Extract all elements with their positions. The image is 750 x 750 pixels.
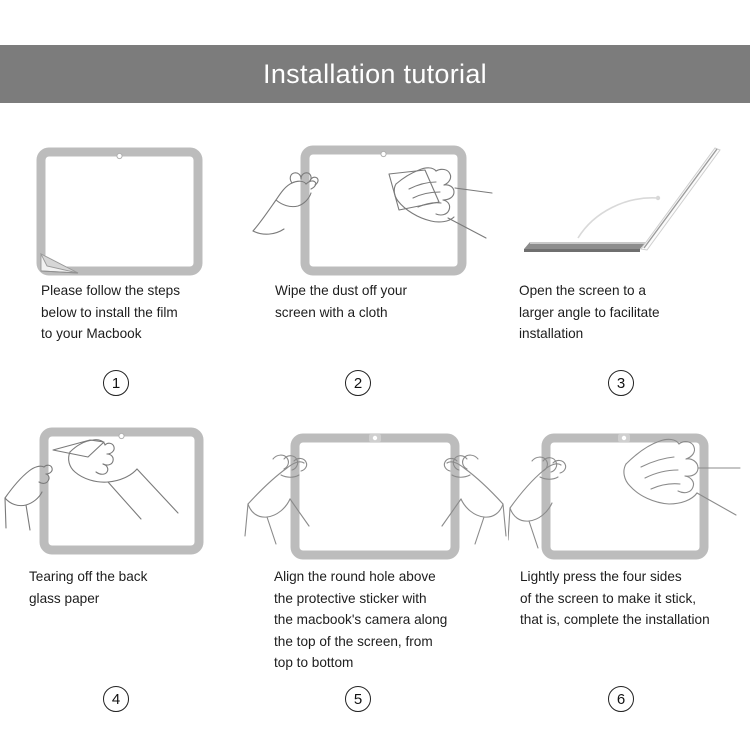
step-1-caption: Please follow the steps below to install…: [0, 280, 243, 345]
step-5-badge-row: 5: [243, 678, 508, 724]
caption-line: the macbook's camera along: [274, 609, 502, 631]
step-1-illustration: [0, 126, 243, 276]
step-card-2: Wipe the dust off your screen with a clo…: [243, 126, 508, 412]
caption-line: of the screen to make it stick,: [520, 588, 744, 610]
step-2-caption: Wipe the dust off your screen with a clo…: [243, 280, 508, 323]
hands-tearing-backing-paper-icon: [0, 412, 243, 562]
step-1-badge-row: 1: [0, 362, 243, 412]
caption-line: Please follow the steps: [41, 280, 237, 302]
step-3-illustration: [508, 126, 750, 276]
caption-line: Open the screen to a: [519, 280, 744, 302]
caption-line: Tearing off the back: [29, 566, 237, 588]
caption-line: Lightly press the four sides: [520, 566, 744, 588]
step-2-illustration: [243, 126, 508, 276]
step-5-illustration: [243, 412, 508, 562]
step-5-caption: Align the round hole above the protectiv…: [243, 566, 508, 674]
two-hands-aligning-film-icon: [243, 412, 508, 562]
caption-line: Wipe the dust off your: [275, 280, 502, 302]
step-3-caption: Open the screen to a larger angle to fac…: [508, 280, 750, 345]
caption-line: the top of the screen, from: [274, 631, 502, 653]
step-number-badge: 6: [608, 686, 634, 712]
laptop-open-angle-side-view-icon: [508, 126, 750, 276]
step-card-6: Lightly press the four sides of the scre…: [508, 412, 750, 724]
laptop-screen-with-peeling-film-icon: [0, 126, 243, 276]
step-6-badge-row: 6: [508, 678, 750, 724]
caption-line: screen with a cloth: [275, 302, 502, 324]
step-2-badge-row: 2: [243, 362, 508, 412]
step-4-caption: Tearing off the back glass paper: [0, 566, 243, 609]
caption-line: top to bottom: [274, 652, 502, 674]
caption-line: larger angle to facilitate: [519, 302, 744, 324]
step-4-illustration: [0, 412, 243, 562]
step-card-4: Tearing off the back glass paper 4: [0, 412, 243, 724]
step-number-badge: 3: [608, 370, 634, 396]
caption-line: below to install the film: [41, 302, 237, 324]
hands-wiping-screen-with-cloth-icon: [243, 126, 508, 276]
step-number-badge: 1: [103, 370, 129, 396]
step-6-caption: Lightly press the four sides of the scre…: [508, 566, 750, 631]
step-number-badge: 4: [103, 686, 129, 712]
step-number-badge: 2: [345, 370, 371, 396]
step-number-badge: 5: [345, 686, 371, 712]
hand-pressing-film-edges-icon: [508, 412, 750, 562]
header-banner: Installation tutorial: [0, 45, 750, 103]
caption-line: glass paper: [29, 588, 237, 610]
steps-grid: Please follow the steps below to install…: [0, 126, 750, 724]
installation-tutorial-page: Installation tutorial: [0, 0, 750, 750]
caption-line: to your Macbook: [41, 323, 237, 345]
step-3-badge-row: 3: [508, 362, 750, 412]
caption-line: that is, complete the installation: [520, 609, 744, 631]
caption-line: installation: [519, 323, 744, 345]
step-6-illustration: [508, 412, 750, 562]
caption-line: Align the round hole above: [274, 566, 502, 588]
step-card-5: Align the round hole above the protectiv…: [243, 412, 508, 724]
step-card-3: Open the screen to a larger angle to fac…: [508, 126, 750, 412]
page-title: Installation tutorial: [263, 61, 487, 88]
step-card-1: Please follow the steps below to install…: [0, 126, 243, 412]
step-4-badge-row: 4: [0, 678, 243, 724]
caption-line: the protective sticker with: [274, 588, 502, 610]
